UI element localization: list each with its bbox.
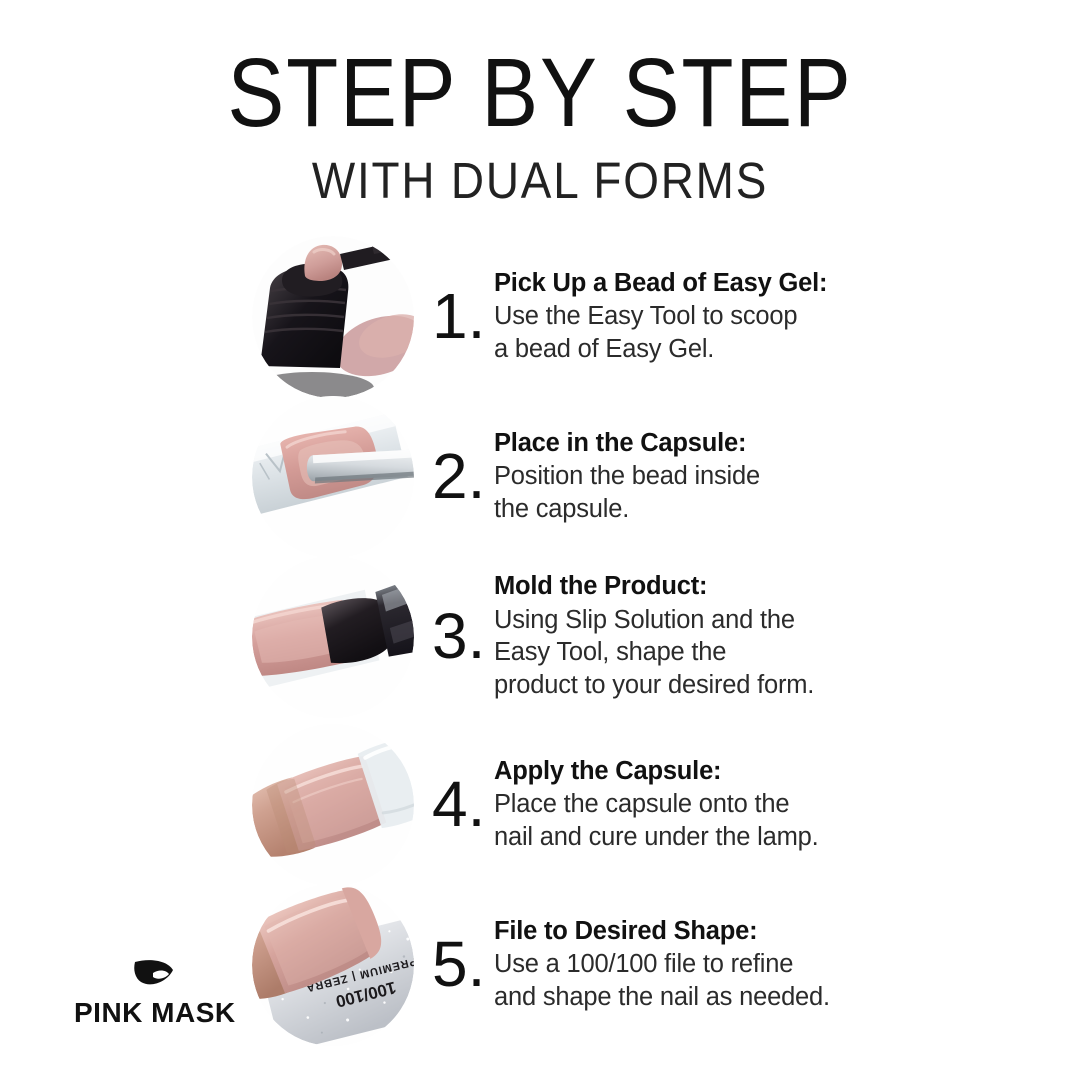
step-image-5: 100/100 PREMIUM | ZEBRA — [252, 884, 414, 1046]
header: STEP BY STEP WITH DUAL FORMS — [0, 0, 1080, 206]
step-number: 1. — [432, 236, 494, 396]
step-text-4: Apply the Capsule: Place the capsule ont… — [494, 724, 964, 884]
step-image-1 — [252, 236, 414, 398]
step-title: Mold the Product: — [494, 570, 964, 603]
step-number: 5. — [432, 884, 494, 1044]
step-text-5: File to Desired Shape: Use a 100/100 fil… — [494, 884, 964, 1044]
list-item: 4. Apply the Capsule: Place the capsule … — [0, 724, 1080, 884]
list-item: 2. Place in the Capsule: Position the be… — [0, 396, 1080, 556]
step-image-4 — [252, 724, 414, 886]
step-body: Position the bead inside the capsule. — [494, 460, 964, 525]
step-body: Place the capsule onto the nail and cure… — [494, 788, 964, 853]
step-text-2: Place in the Capsule: Position the bead … — [494, 396, 964, 556]
step-body: Using Slip Solution and the Easy Tool, s… — [494, 604, 964, 702]
step-title: File to Desired Shape: — [494, 915, 964, 948]
step-image-2 — [252, 396, 414, 558]
step-image-3 — [252, 556, 414, 718]
step-number: 3. — [432, 556, 494, 716]
step-number: 4. — [432, 724, 494, 884]
page-title: STEP BY STEP — [65, 0, 1015, 141]
page-subtitle: WITH DUAL FORMS — [54, 141, 1026, 206]
step-title: Apply the Capsule: — [494, 755, 964, 788]
step-title: Pick Up a Bead of Easy Gel: — [494, 267, 964, 300]
step-body: Use a 100/100 file to refine and shape t… — [494, 948, 964, 1013]
step-body: Use the Easy Tool to scoop a bead of Eas… — [494, 300, 964, 365]
step-number: 2. — [432, 396, 494, 556]
brand-logo: PINK MASK — [74, 958, 234, 1029]
step-text-3: Mold the Product: Using Slip Solution an… — [494, 556, 964, 716]
leaf-icon — [74, 958, 234, 993]
list-item: 3. Mold the Product: Using Slip Solution… — [0, 556, 1080, 716]
step-text-1: Pick Up a Bead of Easy Gel: Use the Easy… — [494, 236, 964, 396]
brand-name: PINK MASK — [74, 997, 234, 1029]
step-title: Place in the Capsule: — [494, 427, 964, 460]
list-item: 1. Pick Up a Bead of Easy Gel: Use the E… — [0, 236, 1080, 396]
